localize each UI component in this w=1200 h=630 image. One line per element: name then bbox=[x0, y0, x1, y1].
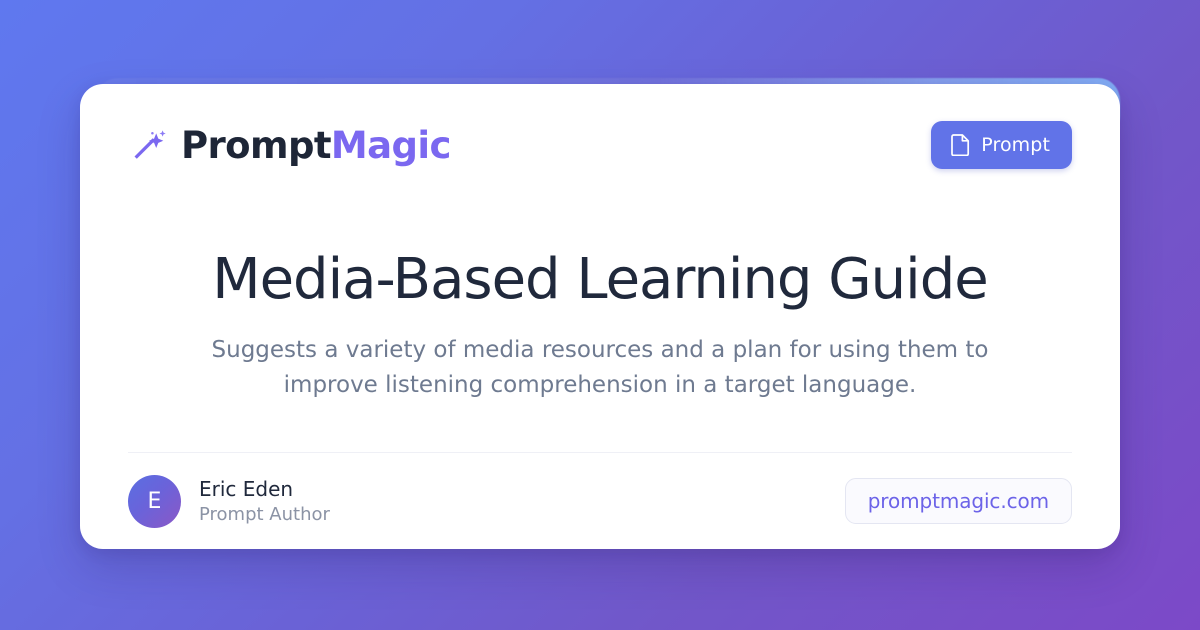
card-header: PromptMagic Prompt bbox=[128, 84, 1072, 206]
author-role: Prompt Author bbox=[199, 504, 330, 526]
brand-wordmark: PromptMagic bbox=[181, 127, 451, 164]
brand-name-secondary: Magic bbox=[331, 124, 451, 167]
author-meta: Eric Eden Prompt Author bbox=[199, 477, 330, 526]
content-card: PromptMagic Prompt Media-Based Learning … bbox=[80, 84, 1120, 549]
page-title: Media-Based Learning Guide bbox=[212, 249, 987, 312]
document-icon bbox=[951, 134, 970, 156]
author-name: Eric Eden bbox=[199, 477, 330, 501]
author-block: E Eric Eden Prompt Author bbox=[128, 475, 330, 528]
card-body: Media-Based Learning Guide Suggests a va… bbox=[128, 206, 1072, 452]
prompt-button[interactable]: Prompt bbox=[931, 121, 1072, 169]
brand-name-primary: Prompt bbox=[181, 124, 331, 167]
card-footer: E Eric Eden Prompt Author promptmagic.co… bbox=[128, 453, 1072, 549]
avatar: E bbox=[128, 475, 181, 528]
prompt-button-label: Prompt bbox=[981, 134, 1050, 156]
brand-logo[interactable]: PromptMagic bbox=[128, 125, 451, 165]
page-subtitle: Suggests a variety of media resources an… bbox=[205, 333, 995, 403]
url-badge[interactable]: promptmagic.com bbox=[845, 478, 1072, 524]
magic-wand-icon bbox=[128, 125, 168, 165]
